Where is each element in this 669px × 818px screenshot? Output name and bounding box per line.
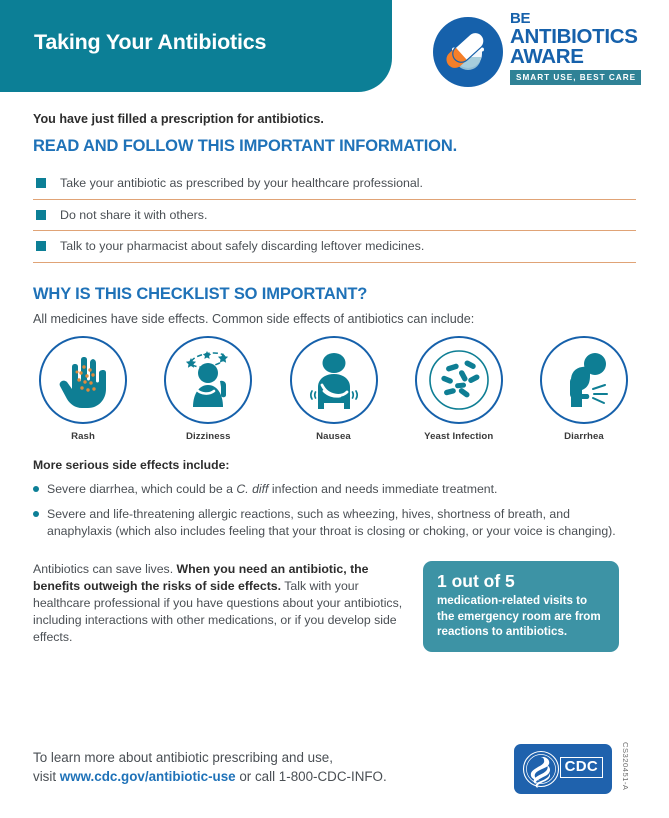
side-effect-diarrhea: Diarrhea — [534, 336, 634, 442]
publication-code: CS320451-A — [621, 742, 630, 790]
logo-line-antibiotics: ANTIBIOTICS — [510, 27, 650, 47]
side-effect-nausea: Nausea — [284, 336, 384, 442]
why-checklist-subtitle: All medicines have side effects. Common … — [33, 312, 636, 326]
logo-line-aware: AWARE — [510, 47, 650, 67]
cdc-wordmark: CDC — [560, 757, 603, 778]
hand-rash-icon — [48, 345, 118, 415]
checklist-item: Talk to your pharmacist about safely dis… — [33, 231, 636, 262]
icon-circle — [415, 336, 503, 424]
cdc-website-link[interactable]: www.cdc.gov/antibiotic-use — [60, 769, 236, 784]
closing-pre: Antibiotics can save lives. — [33, 562, 177, 576]
checklist-item: Do not share it with others. — [33, 200, 636, 231]
dot-bullet-icon — [33, 486, 39, 492]
square-bullet-icon — [36, 178, 46, 188]
side-effect-label: Diarrhea — [534, 431, 634, 442]
page-title: Taking Your Antibiotics — [34, 30, 266, 55]
capsule-beaker-icon — [432, 16, 504, 88]
icon-circle — [290, 336, 378, 424]
side-effect-label: Rash — [33, 431, 133, 442]
serious-effect-text: Severe and life-threatening allergic rea… — [47, 506, 636, 538]
footer-phone-label: or call 1-800-CDC-INFO. — [236, 769, 387, 784]
side-effects-icon-row: Rash — [33, 336, 634, 442]
serious-effect-item: Severe and life-threatening allergic rea… — [33, 506, 636, 538]
serious-effect-text-pre: Severe diarrhea, which could be a — [47, 482, 236, 496]
why-checklist-heading: WHY IS THIS CHECKLIST SO IMPORTANT? — [33, 285, 636, 304]
nausea-person-icon — [299, 345, 369, 415]
be-antibiotics-aware-logo: BE ANTIBIOTICS AWARE SMART USE, BEST CAR… — [432, 12, 647, 92]
read-follow-heading: READ AND FOLLOW THIS IMPORTANT INFORMATI… — [33, 137, 636, 156]
icon-circle — [39, 336, 127, 424]
checklist-item-label: Talk to your pharmacist about safely dis… — [60, 238, 424, 255]
checklist-item: Take your antibiotic as prescribed by yo… — [33, 168, 636, 199]
lead-text: You have just filled a prescription for … — [33, 112, 636, 126]
serious-effect-item: Severe diarrhea, which could be a C. dif… — [33, 481, 636, 497]
c-diff-emphasis: C. diff — [236, 482, 268, 496]
checklist: Take your antibiotic as prescribed by yo… — [33, 168, 636, 263]
dizzy-person-icon — [173, 345, 243, 415]
icon-circle — [164, 336, 252, 424]
hhs-seal-icon — [522, 750, 560, 788]
serious-effect-text: Severe diarrhea, which could be a C. dif… — [47, 481, 497, 497]
square-bullet-icon — [36, 210, 46, 220]
dot-bullet-icon — [33, 511, 39, 517]
side-effect-label: Yeast Infection — [409, 431, 509, 442]
side-effect-dizziness: Dizziness — [158, 336, 258, 442]
side-effect-label: Dizziness — [158, 431, 258, 442]
icon-circle — [540, 336, 628, 424]
checklist-item-label: Do not share it with others. — [60, 207, 207, 224]
logo-wordmark: BE ANTIBIOTICS AWARE SMART USE, BEST CAR… — [510, 12, 650, 85]
closing-section: Antibiotics can save lives. When you nee… — [33, 561, 636, 652]
petri-dish-bacteria-icon — [424, 345, 494, 415]
callout-description: medication-related visits to the emergen… — [437, 593, 606, 638]
side-effect-rash: Rash — [33, 336, 133, 442]
side-effect-label: Nausea — [284, 431, 384, 442]
closing-paragraph: Antibiotics can save lives. When you nee… — [33, 561, 423, 652]
body-content: You have just filled a prescription for … — [33, 112, 636, 652]
diarrhea-person-icon — [549, 345, 619, 415]
checklist-item-label: Take your antibiotic as prescribed by yo… — [60, 175, 423, 192]
footer-visit-label: visit — [33, 769, 60, 784]
cdc-logo: CDC — [514, 744, 612, 794]
square-bullet-icon — [36, 241, 46, 251]
statistic-callout: 1 out of 5 medication-related visits to … — [423, 561, 619, 652]
serious-effect-text-post: infection and needs immediate treatment. — [268, 482, 497, 496]
divider — [33, 262, 636, 263]
callout-statistic: 1 out of 5 — [437, 572, 606, 592]
side-effect-yeast-infection: Yeast Infection — [409, 336, 509, 442]
logo-tagline: SMART USE, BEST CARE — [510, 70, 641, 85]
infographic-page: Taking Your Antibiotics BE ANTIBIOTICS A… — [0, 0, 669, 818]
serious-effects-heading: More serious side effects include: — [33, 458, 636, 472]
